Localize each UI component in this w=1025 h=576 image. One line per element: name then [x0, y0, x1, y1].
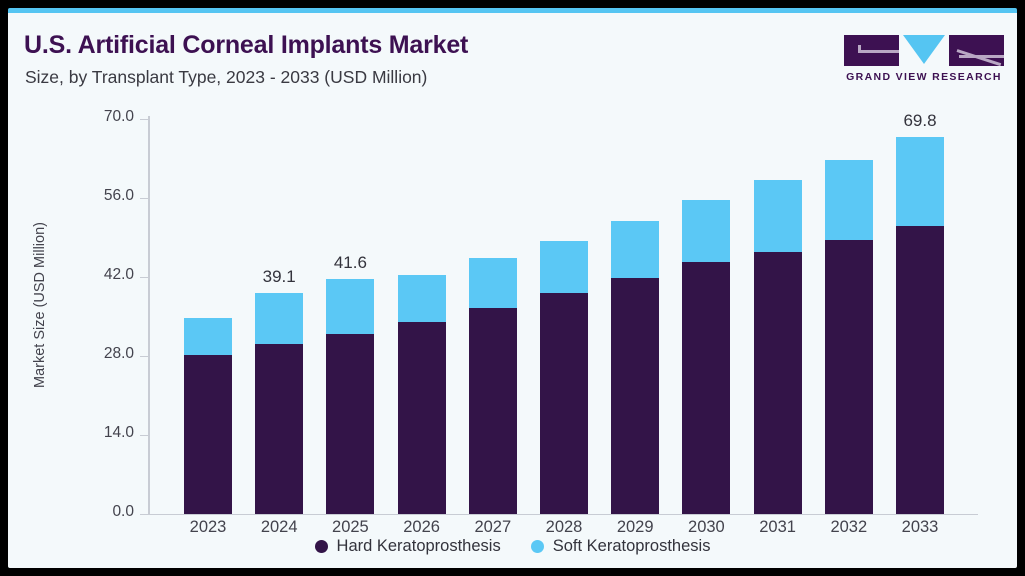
- bar-segment[interactable]: [184, 355, 232, 514]
- legend-color-dot-icon: [531, 540, 544, 553]
- page-title: U.S. Artificial Corneal Implants Market: [24, 31, 468, 60]
- bar-segment[interactable]: [398, 275, 446, 321]
- chart-card: U.S. Artificial Corneal Implants Market …: [8, 8, 1017, 568]
- logo-triangle-icon: [903, 35, 945, 64]
- y-axis-title: Market Size (USD Million): [32, 145, 48, 465]
- legend-color-dot-icon: [315, 540, 328, 553]
- bar-segment[interactable]: [611, 278, 659, 513]
- bar-segment[interactable]: [540, 241, 588, 293]
- bar-value-label: 69.8: [876, 111, 964, 131]
- chart-plot-area: Market Size (USD Million) 0.014.028.042.…: [8, 101, 1017, 568]
- bar-stack[interactable]: 39.1: [255, 293, 303, 514]
- logo-left-horizontal-bar: [858, 50, 899, 53]
- bar-segment[interactable]: [398, 322, 446, 514]
- y-axis-tick-label: 0.0: [68, 503, 134, 521]
- bar-stack[interactable]: [398, 275, 446, 513]
- bar-stack[interactable]: [469, 258, 517, 514]
- bar-stack[interactable]: [540, 241, 588, 514]
- bar-stack[interactable]: [611, 221, 659, 513]
- bar-stack[interactable]: [754, 180, 802, 514]
- logo-wordmark: GRAND VIEW RESEARCH: [844, 71, 1004, 83]
- bar-stack[interactable]: 69.8: [896, 137, 944, 514]
- logo-left-square-icon: [844, 35, 899, 66]
- y-axis-tick-label: 42.0: [68, 266, 134, 284]
- legend-item[interactable]: Soft Keratoprosthesis: [531, 537, 711, 556]
- legend-item[interactable]: Hard Keratoprosthesis: [315, 537, 501, 556]
- bar-segment[interactable]: [469, 308, 517, 514]
- logo-right-horizontal-bar: [959, 55, 1004, 58]
- logo-mark: [844, 30, 1004, 66]
- bar-segment[interactable]: [326, 279, 374, 334]
- page-subtitle: Size, by Transplant Type, 2023 - 2033 (U…: [25, 67, 427, 88]
- bar-stack[interactable]: 41.6: [326, 279, 374, 514]
- bar-segment[interactable]: [825, 160, 873, 241]
- bar-segment[interactable]: [611, 221, 659, 278]
- bar-value-label: 41.6: [306, 253, 394, 273]
- bar-stack[interactable]: [184, 318, 232, 513]
- y-axis-tick-label: 14.0: [68, 424, 134, 442]
- bar-segment[interactable]: [825, 240, 873, 513]
- bar-stack[interactable]: [825, 160, 873, 514]
- y-axis-tick-label: 70.0: [68, 108, 134, 126]
- y-axis-tick-label: 56.0: [68, 187, 134, 205]
- chart-legend: Hard KeratoprosthesisSoft Keratoprosthes…: [8, 537, 1017, 556]
- legend-label: Soft Keratoprosthesis: [553, 537, 711, 556]
- bar-stack[interactable]: [682, 200, 730, 513]
- x-axis-tick-label: 2033: [876, 518, 964, 537]
- x-axis-line: [148, 514, 978, 516]
- legend-label: Hard Keratoprosthesis: [337, 537, 501, 556]
- bar-segment[interactable]: [184, 318, 232, 355]
- bar-segment[interactable]: [469, 258, 517, 308]
- bar-segment[interactable]: [754, 180, 802, 252]
- logo-left-vertical-tick: [858, 45, 861, 52]
- bar-segment[interactable]: [326, 334, 374, 514]
- bar-segment[interactable]: [896, 226, 944, 514]
- bar-segment[interactable]: [255, 293, 303, 344]
- bar-segment[interactable]: [255, 344, 303, 514]
- logo-right-square-icon: [949, 35, 1004, 66]
- grand-view-research-logo: GRAND VIEW RESEARCH: [844, 30, 1004, 90]
- bar-segment[interactable]: [540, 293, 588, 514]
- bar-segment[interactable]: [682, 200, 730, 262]
- bar-segment[interactable]: [754, 252, 802, 514]
- bar-segment[interactable]: [682, 262, 730, 513]
- y-axis-line: [148, 116, 150, 514]
- bar-segment[interactable]: [896, 137, 944, 226]
- chart-header: U.S. Artificial Corneal Implants Market …: [8, 13, 1017, 101]
- y-axis-tick-label: 28.0: [68, 345, 134, 363]
